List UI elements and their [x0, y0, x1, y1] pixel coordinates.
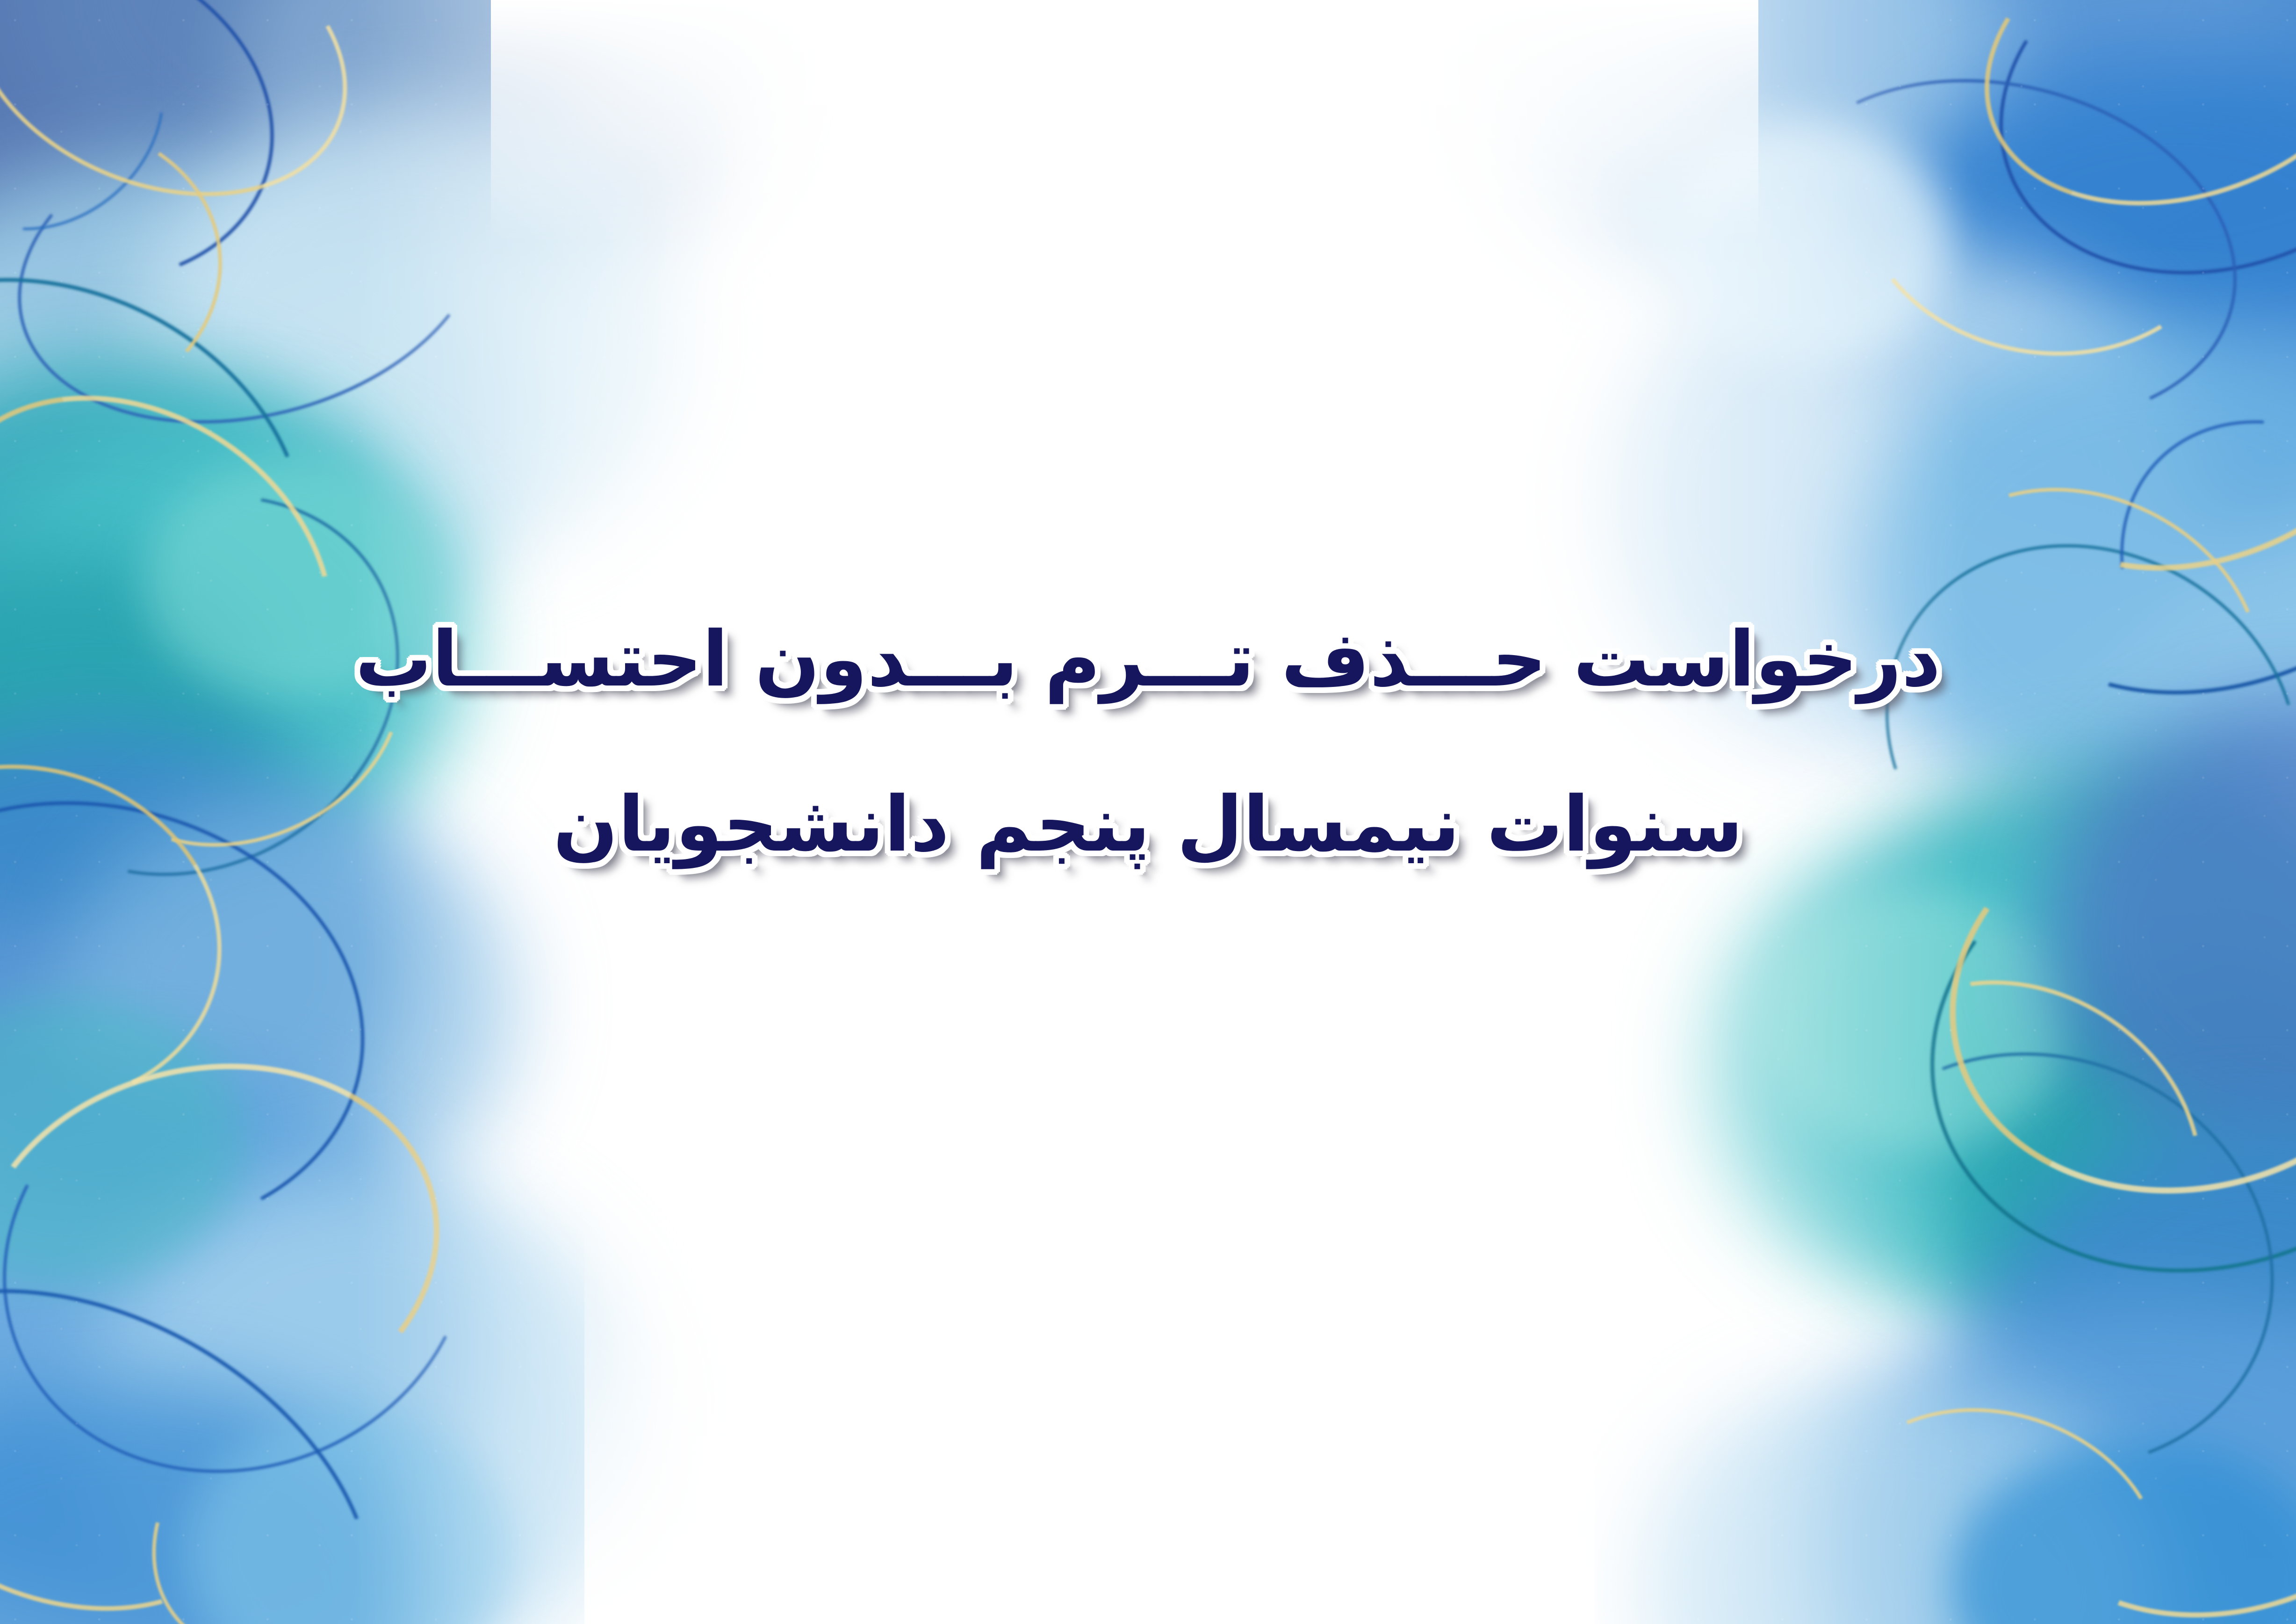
slide-title-block: درخواست حـــذف تـــرم بـــدون احتســـاب … — [0, 617, 2296, 867]
title-line-1: درخواست حـــذف تـــرم بـــدون احتســـاب — [0, 617, 2296, 703]
fade-overlay-top — [491, 0, 1758, 243]
title-line-2: سنوات نیمسال پنجم دانشجویان — [0, 782, 2296, 868]
fade-overlay-bottom — [584, 1203, 1595, 1624]
slide-canvas: درخواست حـــذف تـــرم بـــدون احتســـاب … — [0, 0, 2296, 1624]
